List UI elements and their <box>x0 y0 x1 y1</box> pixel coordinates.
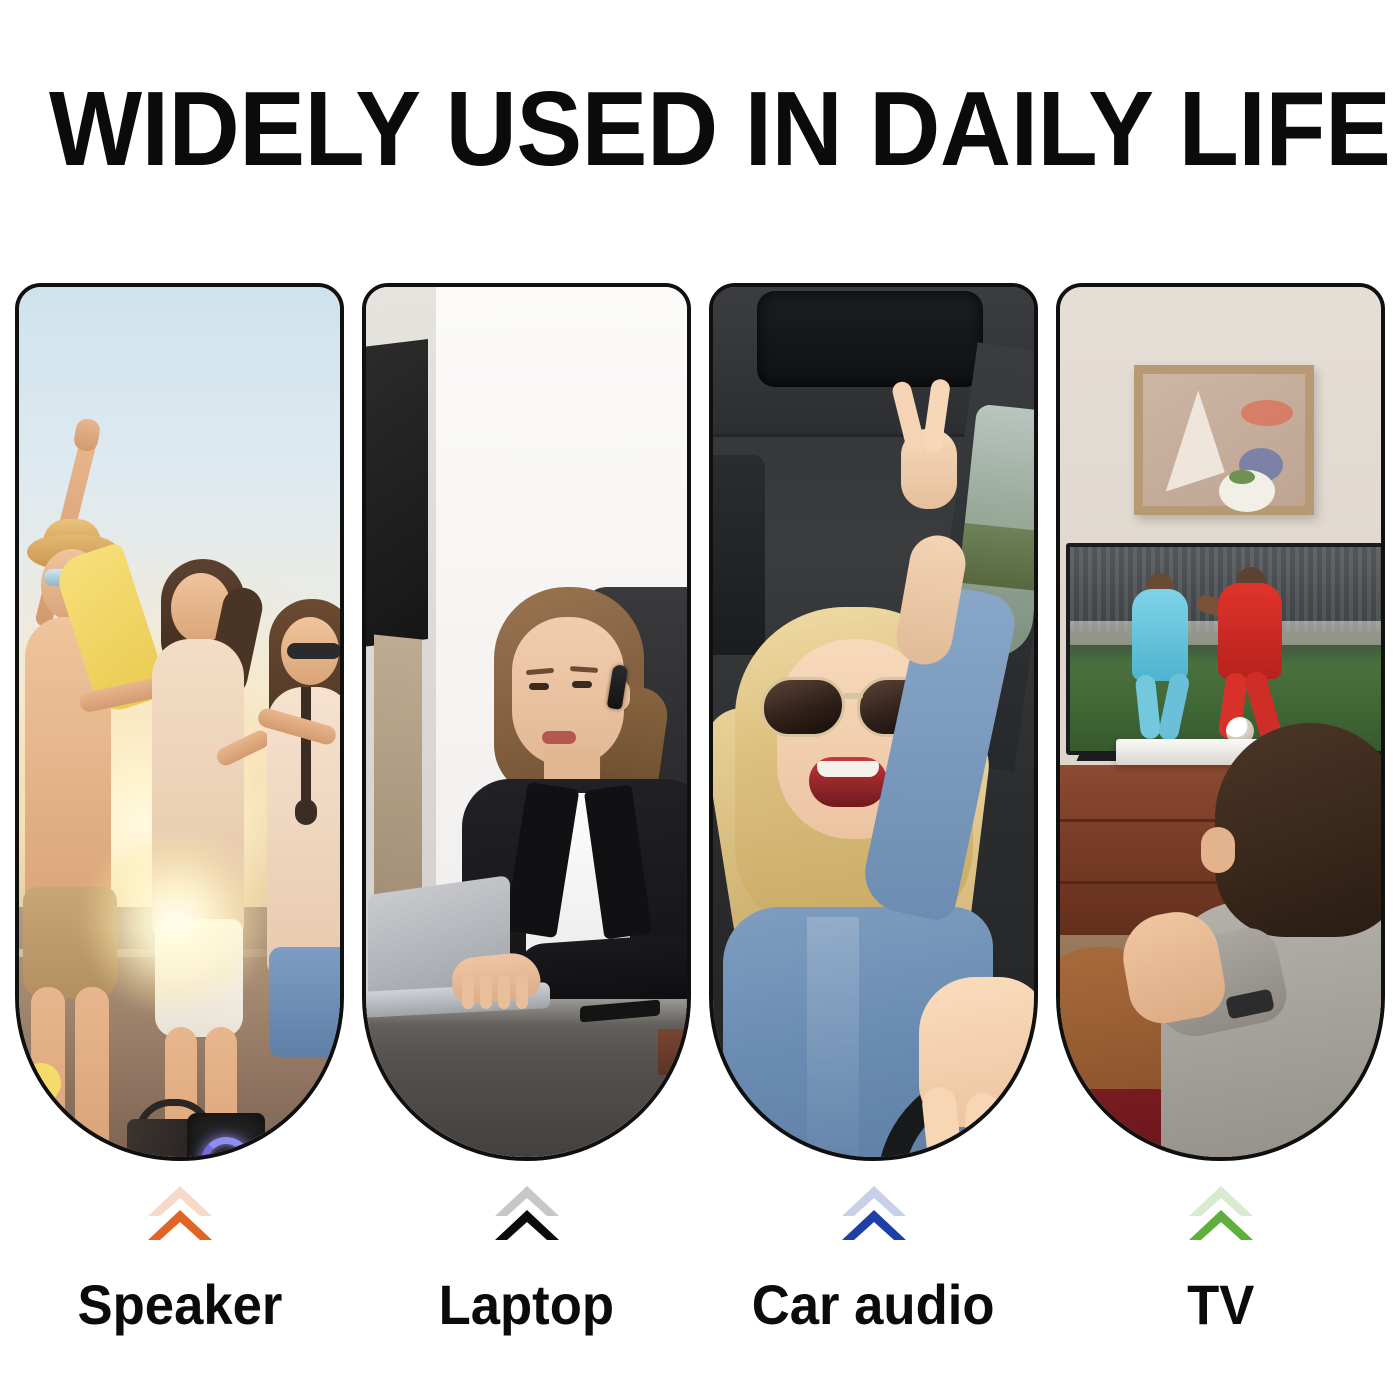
side-window-dark <box>713 455 765 655</box>
chevron-up-solid-icon <box>489 1202 565 1244</box>
soundcore-speaker: soundcore <box>127 1099 267 1157</box>
scene-panel-laptop[interactable] <box>362 283 691 1161</box>
blue-kit-player <box>1132 589 1188 681</box>
dancer-three-shorts <box>269 947 340 1057</box>
sunglass-lens-left <box>761 677 845 737</box>
dancer-three-sunglasses <box>287 643 340 659</box>
legend-label-car-audio: Car audio <box>752 1276 995 1334</box>
man-viewer-head <box>1215 723 1381 937</box>
scene-panels: soundcore <box>15 283 1385 1161</box>
scene-panel-tv[interactable] <box>1056 283 1385 1161</box>
double-chevron-up-icon <box>1183 1178 1259 1252</box>
legend-item-car-audio[interactable]: Car audio <box>709 1178 1038 1368</box>
television <box>1066 543 1381 755</box>
scene-panel-car-audio[interactable] <box>709 283 1038 1161</box>
chevron-up-solid-icon <box>836 1202 912 1244</box>
double-chevron-up-icon <box>489 1178 565 1252</box>
chevron-up-solid-icon <box>142 1202 218 1244</box>
dark-frame-object <box>366 339 428 647</box>
scene-image-speaker: soundcore <box>19 287 340 1157</box>
scene-image-car-audio <box>713 287 1034 1157</box>
page-title: WIDELY USED IN DAILY LIFE <box>49 76 1351 182</box>
painting-red-shape <box>1241 400 1293 426</box>
double-chevron-up-icon <box>836 1178 912 1252</box>
legend-label-laptop: Laptop <box>439 1276 614 1334</box>
legend-item-laptop[interactable]: Laptop <box>362 1178 691 1368</box>
scene-image-laptop <box>366 287 687 1157</box>
legend-label-tv: TV <box>1187 1276 1254 1334</box>
framed-painting <box>1134 365 1314 515</box>
scene-legend: Speaker Laptop Car aud <box>15 1178 1385 1368</box>
wheel-finger-2 <box>964 1092 1001 1157</box>
balloon-yellow <box>21 1063 61 1103</box>
finger-2 <box>480 975 492 1009</box>
chevron-up-solid-icon <box>1183 1202 1259 1244</box>
painting-green-leaf <box>1229 470 1255 484</box>
teeth <box>817 761 879 777</box>
legend-label-speaker: Speaker <box>77 1276 282 1334</box>
sunroof-panel <box>757 291 983 387</box>
eye-right <box>572 681 592 688</box>
finger-3 <box>498 975 510 1009</box>
sunglass-bridge <box>843 693 863 699</box>
promo-graphic-root: WIDELY USED IN DAILY LIFE <box>0 0 1400 1400</box>
double-chevron-up-icon <box>142 1178 218 1252</box>
necklace-pendant <box>295 799 317 825</box>
scene-image-tv <box>1060 287 1381 1157</box>
necklace-strand <box>301 687 311 807</box>
painting-triangle-shape <box>1139 391 1225 492</box>
man-viewer-ear <box>1201 827 1235 873</box>
finger-1 <box>462 975 474 1009</box>
book-on-desk <box>658 1029 687 1075</box>
legend-item-speaker[interactable]: Speaker <box>15 1178 344 1368</box>
lips <box>542 731 576 744</box>
finger-4 <box>516 975 528 1009</box>
sun-flare <box>81 827 271 1017</box>
legend-item-tv[interactable]: TV <box>1056 1178 1385 1368</box>
dancer-one-leg-right <box>75 987 109 1157</box>
desk-surface <box>366 999 687 1157</box>
eye-left <box>529 683 549 690</box>
scene-panel-speaker[interactable]: soundcore <box>15 283 344 1161</box>
red-kit-player <box>1218 583 1282 679</box>
